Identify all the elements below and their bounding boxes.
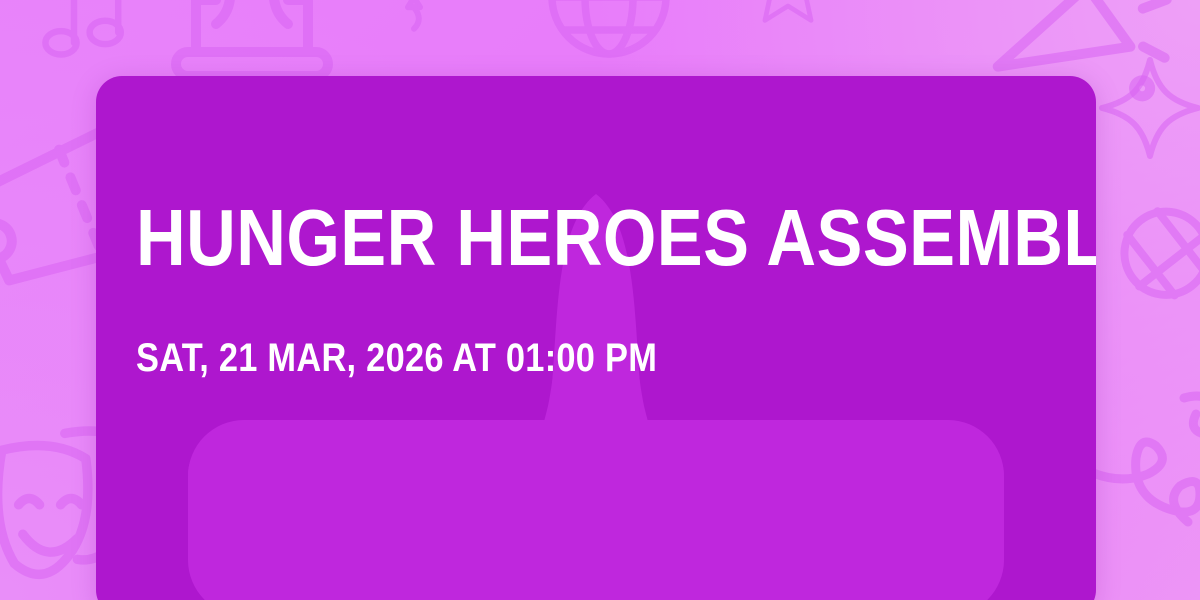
event-card[interactable]: Hunger Heroes Assemble Sat, 21 Mar, 2026…: [96, 76, 1096, 600]
event-datetime: Sat, 21 Mar, 2026 at 01:00 PM: [136, 338, 657, 378]
music-note-icon: [22, 0, 152, 74]
event-title: Hunger Heroes Assemble: [136, 198, 1096, 278]
globe-icon: [534, 0, 684, 72]
event-banner: Hunger Heroes Assemble Sat, 21 Mar, 2026…: [0, 0, 1200, 600]
balloon-icon: [354, 0, 474, 36]
star-icon: [740, 0, 836, 30]
sparkle-icon: [1090, 48, 1200, 168]
card-content: Hunger Heroes Assemble Sat, 21 Mar, 2026…: [136, 76, 1056, 600]
